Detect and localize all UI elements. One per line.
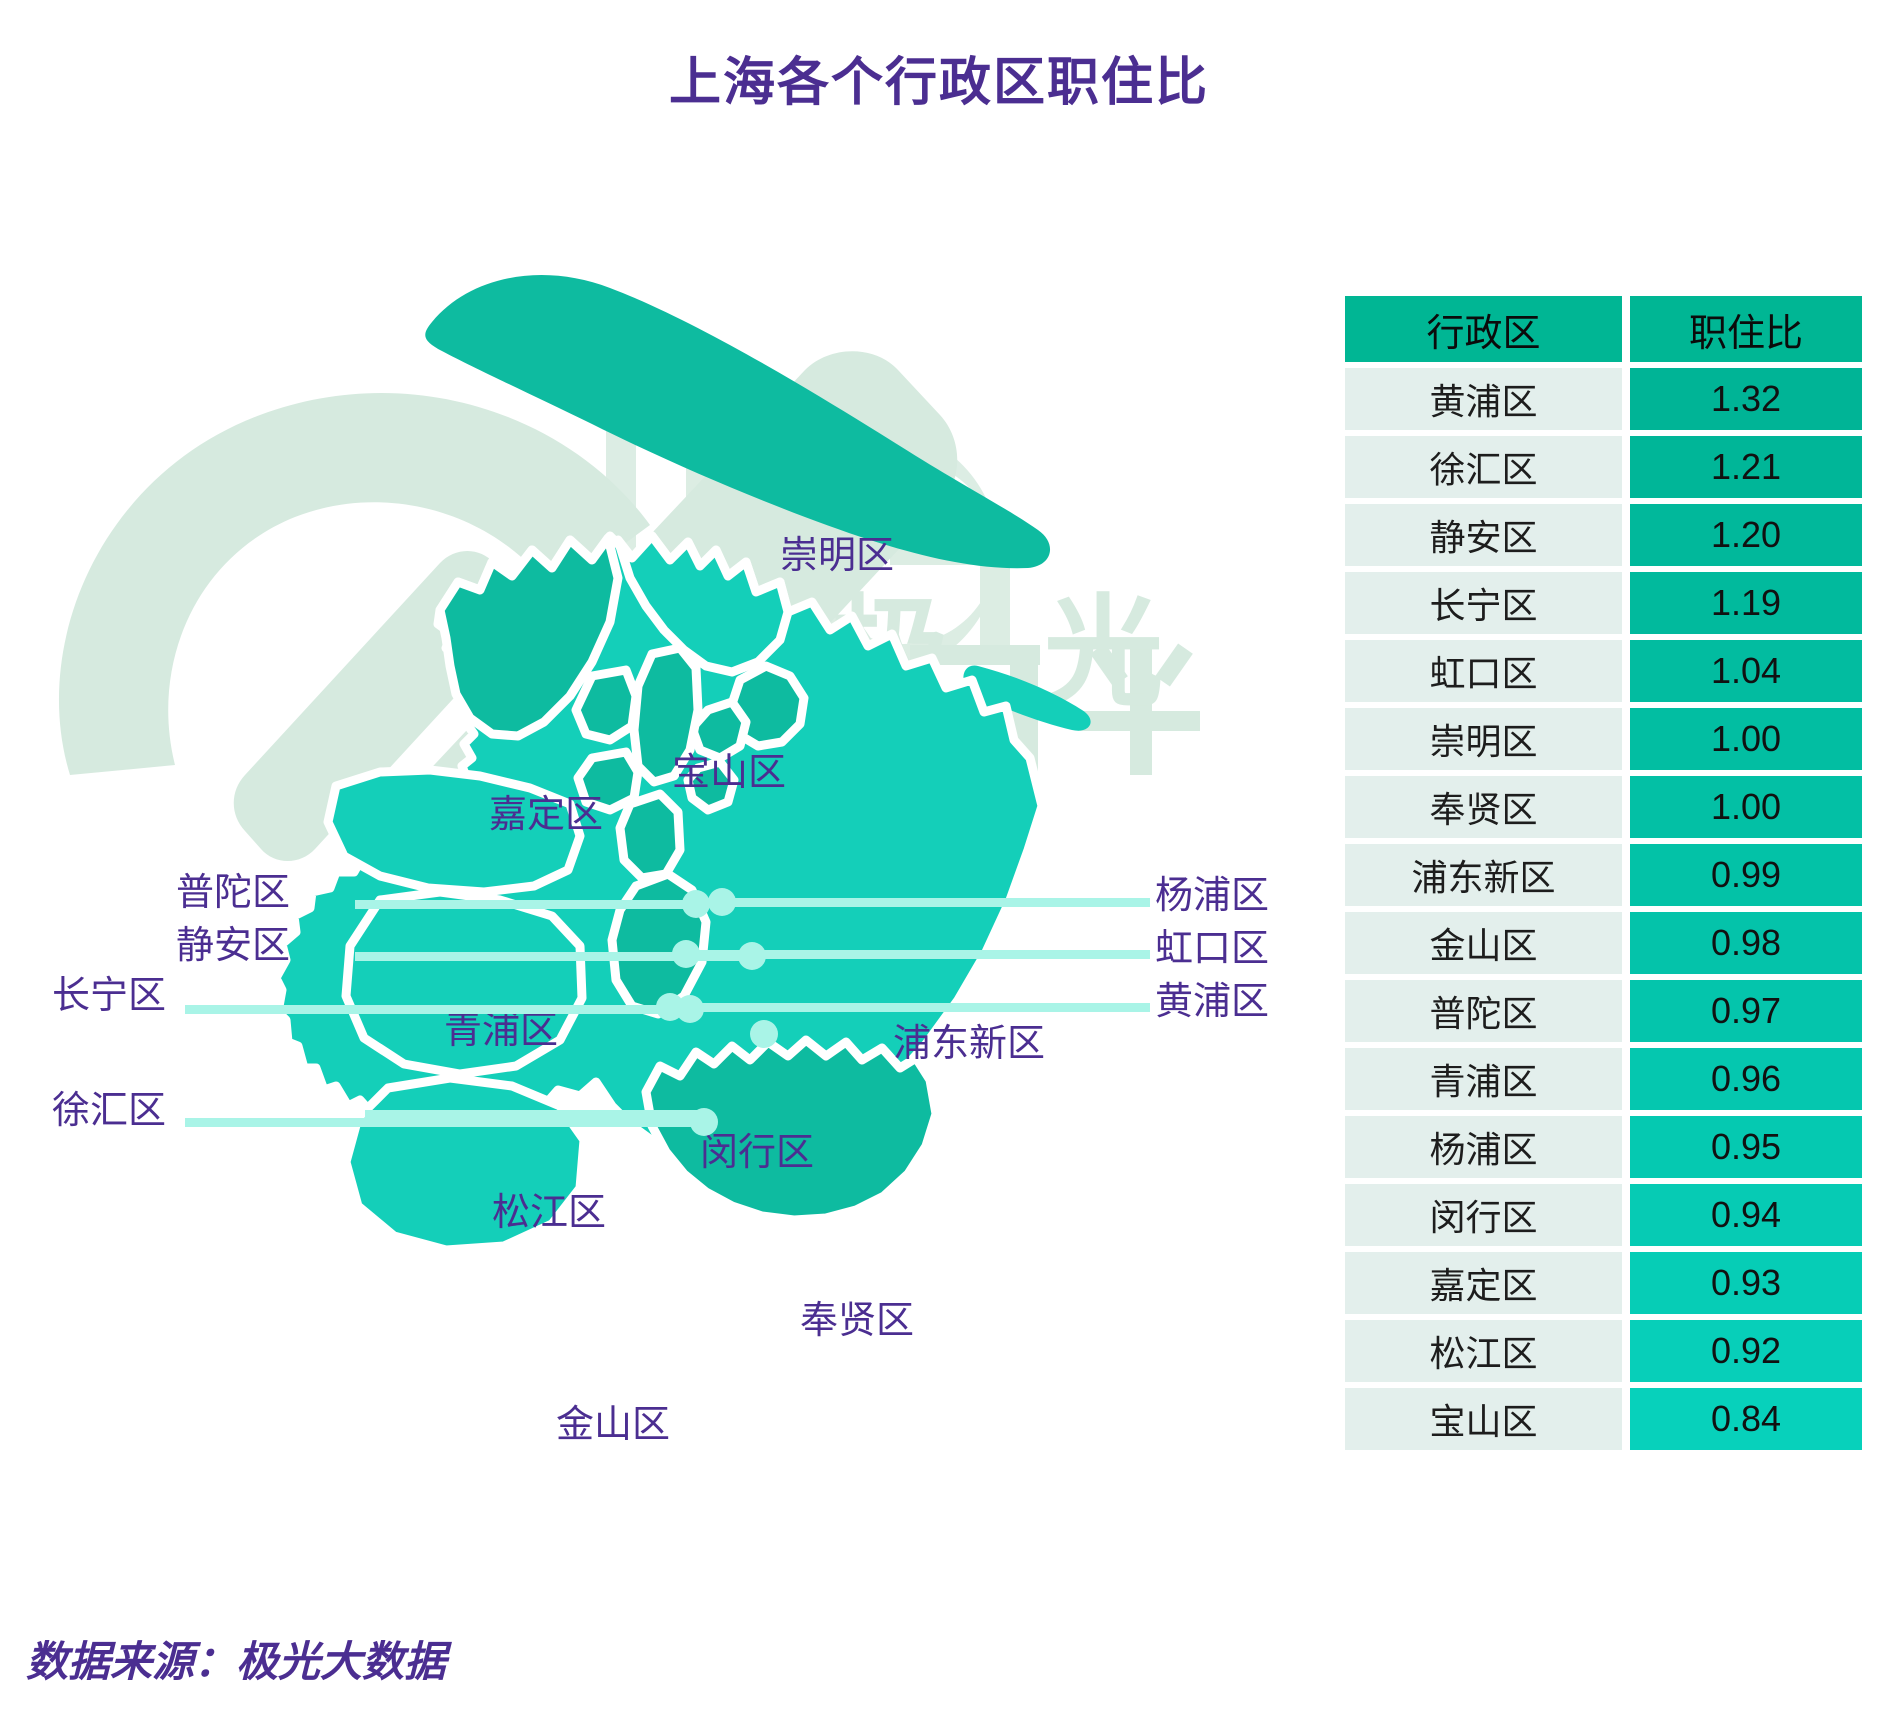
source-note: 数据来源：极光大数据 [26, 1628, 446, 1689]
column-header-district: 行政区 [1345, 296, 1622, 362]
map-label-changning: 长宁区 [52, 975, 166, 1018]
cell-ratio: 0.94 [1630, 1184, 1862, 1246]
table-row: 杨浦区0.95 [1345, 1116, 1862, 1178]
cell-ratio: 1.00 [1630, 776, 1862, 838]
table-row: 浦东新区0.99 [1345, 844, 1862, 906]
table-row: 松江区0.92 [1345, 1320, 1862, 1382]
shanghai-district-map [140, 210, 1270, 1390]
table-row: 青浦区0.96 [1345, 1048, 1862, 1110]
table-row: 金山区0.98 [1345, 912, 1862, 974]
table-row: 闵行区0.94 [1345, 1184, 1862, 1246]
map-region-chongming [425, 275, 1050, 568]
cell-district: 嘉定区 [1345, 1252, 1622, 1314]
cell-district: 金山区 [1345, 912, 1622, 974]
cell-district: 浦东新区 [1345, 844, 1622, 906]
cell-district: 崇明区 [1345, 708, 1622, 770]
cell-ratio: 0.95 [1630, 1116, 1862, 1178]
map-label-jinshan: 金山区 [556, 1404, 670, 1447]
cell-ratio: 0.93 [1630, 1252, 1862, 1314]
cell-ratio: 1.04 [1630, 640, 1862, 702]
map-label-yangpu: 杨浦区 [1155, 875, 1269, 918]
table-row: 虹口区1.04 [1345, 640, 1862, 702]
cell-ratio: 0.98 [1630, 912, 1862, 974]
map-label-huangpu: 黄浦区 [1155, 981, 1269, 1024]
leader-line-putuo [355, 900, 700, 909]
map-label-jiading: 嘉定区 [489, 794, 603, 837]
leader-line-xuhui [185, 1118, 705, 1127]
cell-ratio: 0.92 [1630, 1320, 1862, 1382]
map-label-putuo: 普陀区 [176, 872, 290, 915]
ratio-table: 行政区 职住比 黄浦区1.32徐汇区1.21静安区1.20长宁区1.19虹口区1… [1345, 296, 1862, 1456]
cell-ratio: 0.97 [1630, 980, 1862, 1042]
infographic-page: 上海各个行政区职住比 [0, 0, 1878, 1714]
cell-district: 宝山区 [1345, 1388, 1622, 1450]
cell-district: 青浦区 [1345, 1048, 1622, 1110]
cell-ratio: 1.00 [1630, 708, 1862, 770]
cell-ratio: 1.20 [1630, 504, 1862, 566]
map-label-songjiang: 松江区 [492, 1192, 606, 1235]
map-region-fengxian [646, 1040, 936, 1220]
table-row: 长宁区1.19 [1345, 572, 1862, 634]
column-header-ratio: 职住比 [1630, 296, 1862, 362]
cell-district: 奉贤区 [1345, 776, 1622, 838]
cell-ratio: 0.99 [1630, 844, 1862, 906]
leader-line-bottom [365, 1110, 700, 1119]
cell-district: 徐汇区 [1345, 436, 1622, 498]
table-row: 普陀区0.97 [1345, 980, 1862, 1042]
leader-line-huangpu [672, 1003, 1150, 1012]
leader-dot-huangpu [656, 993, 684, 1021]
table-header-row: 行政区 职住比 [1345, 296, 1862, 362]
map-label-chongming: 崇明区 [780, 535, 894, 578]
leader-dot-hongkou [672, 940, 700, 968]
map-label-hongkou: 虹口区 [1155, 928, 1269, 971]
cell-ratio: 0.96 [1630, 1048, 1862, 1110]
map-label-fengxian: 奉贤区 [800, 1300, 914, 1343]
map-region-xuhui [620, 794, 680, 878]
cell-district: 黄浦区 [1345, 368, 1622, 430]
table-row: 宝山区0.84 [1345, 1388, 1862, 1450]
map-region-putuo [576, 670, 636, 740]
leader-line-changning [185, 1005, 695, 1014]
table-body: 黄浦区1.32徐汇区1.21静安区1.20长宁区1.19虹口区1.04崇明区1.… [1345, 368, 1862, 1450]
cell-district: 虹口区 [1345, 640, 1622, 702]
leader-dot-putuo [682, 890, 710, 918]
page-title: 上海各个行政区职住比 [0, 40, 1878, 115]
cell-ratio: 1.19 [1630, 572, 1862, 634]
map-label-jingan: 静安区 [176, 925, 290, 968]
cell-ratio: 1.32 [1630, 368, 1862, 430]
leader-dot-yangpu [708, 888, 736, 916]
map-label-baoshan: 宝山区 [672, 752, 786, 795]
table-row: 静安区1.20 [1345, 504, 1862, 566]
cell-district: 杨浦区 [1345, 1116, 1622, 1178]
cell-district: 闵行区 [1345, 1184, 1622, 1246]
map-label-pudong: 浦东新区 [893, 1023, 1045, 1066]
map-label-minhang: 闵行区 [700, 1132, 814, 1175]
cell-ratio: 1.21 [1630, 436, 1862, 498]
cell-district: 普陀区 [1345, 980, 1622, 1042]
leader-line-hongkou [690, 950, 1150, 959]
map-label-qingpu: 青浦区 [444, 1010, 558, 1053]
table-row: 崇明区1.00 [1345, 708, 1862, 770]
cell-district: 静安区 [1345, 504, 1622, 566]
cell-ratio: 0.84 [1630, 1388, 1862, 1450]
table-row: 奉贤区1.00 [1345, 776, 1862, 838]
table-row: 黄浦区1.32 [1345, 368, 1862, 430]
table-row: 嘉定区0.93 [1345, 1252, 1862, 1314]
leader-dot-bottom [750, 1020, 778, 1048]
leader-line-yangpu [720, 898, 1150, 907]
table-row: 徐汇区1.21 [1345, 436, 1862, 498]
cell-district: 松江区 [1345, 1320, 1622, 1382]
map-label-xuhui: 徐汇区 [52, 1090, 166, 1133]
cell-district: 长宁区 [1345, 572, 1622, 634]
